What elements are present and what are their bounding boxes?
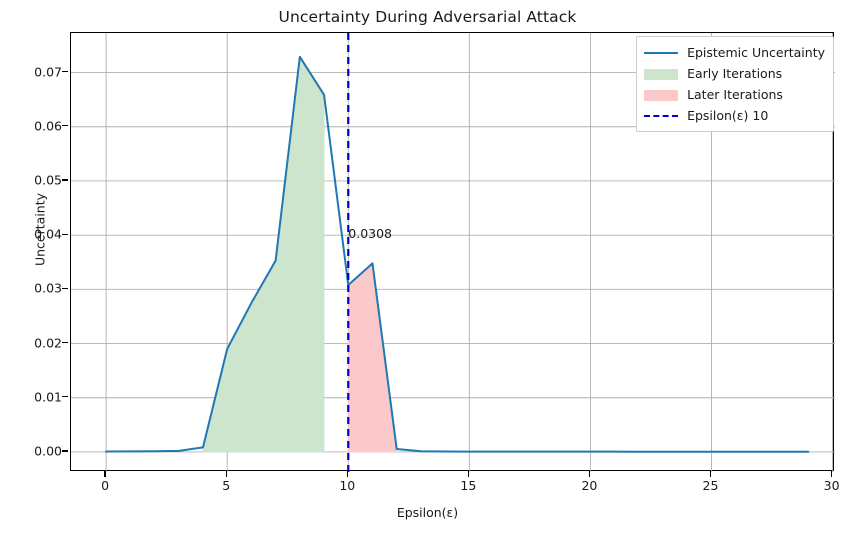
x-tick-label: 25 (703, 478, 719, 493)
x-tick-label: 20 (581, 478, 597, 493)
legend-label: Epsilon(ε) 10 (687, 108, 768, 123)
y-axis-label: Uncertainty (33, 170, 48, 290)
y-tick-mark (62, 288, 68, 289)
y-tick-label: 0.01 (34, 389, 62, 404)
x-tick-label: 0 (101, 478, 109, 493)
x-tick-mark (710, 471, 711, 477)
legend-item[interactable]: Early Iterations (644, 63, 825, 84)
x-tick-mark (831, 471, 832, 477)
legend-dashed-swatch (644, 109, 678, 123)
x-axis-label: Epsilon(ε) (0, 505, 855, 520)
legend-item[interactable]: Epsilon(ε) 10 (644, 105, 825, 126)
y-tick-mark (62, 71, 68, 72)
y-tick-mark (62, 396, 68, 397)
annotation-0308: 0.0308 (348, 226, 392, 241)
y-tick-mark (62, 234, 68, 235)
legend-patch-swatch (644, 88, 678, 102)
y-tick-label: 0.07 (34, 64, 62, 79)
y-tick-label: 0.06 (34, 118, 62, 133)
chart-title: Uncertainty During Adversarial Attack (0, 8, 855, 26)
legend-label: Epistemic Uncertainty (687, 45, 825, 60)
x-tick-mark (589, 471, 590, 477)
y-tick-mark (62, 450, 68, 451)
legend-item[interactable]: Later Iterations (644, 84, 825, 105)
x-tick-mark (226, 471, 227, 477)
x-tick-label: 10 (339, 478, 355, 493)
x-tick-mark (104, 471, 105, 477)
y-tick-mark (62, 342, 68, 343)
legend-swatch-mark (644, 52, 678, 54)
legend: Epistemic UncertaintyEarly IterationsLat… (636, 36, 834, 132)
legend-label: Early Iterations (687, 66, 782, 81)
legend-swatch-mark (644, 90, 678, 101)
legend-line-swatch (644, 46, 678, 60)
legend-swatch-mark (644, 69, 678, 80)
x-tick-mark (468, 471, 469, 477)
fill-region (348, 263, 396, 452)
y-tick-mark (62, 125, 68, 126)
fill-region (203, 57, 324, 452)
y-tick-mark (62, 179, 68, 180)
legend-item[interactable]: Epistemic Uncertainty (644, 42, 825, 63)
legend-swatch-mark (644, 115, 678, 117)
x-tick-mark (347, 471, 348, 477)
x-tick-label: 15 (460, 478, 476, 493)
y-tick-label: 0.00 (34, 443, 62, 458)
chart-figure: Uncertainty During Adversarial Attack 0.… (0, 0, 855, 547)
x-tick-label: 5 (222, 478, 230, 493)
legend-label: Later Iterations (687, 87, 783, 102)
y-tick-label: 0.02 (34, 335, 62, 350)
legend-patch-swatch (644, 67, 678, 81)
x-tick-label: 30 (824, 478, 840, 493)
